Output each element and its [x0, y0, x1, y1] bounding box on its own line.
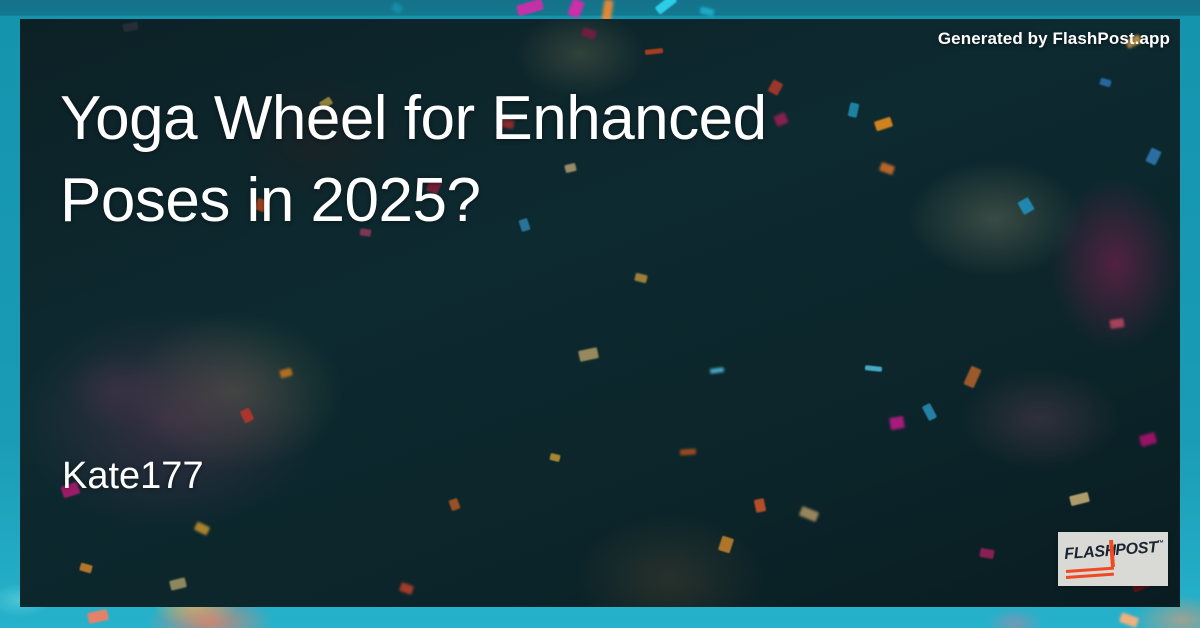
flashpost-logo-trademark-icon: ™: [1157, 540, 1164, 547]
author-name: Kate177: [62, 455, 204, 498]
flashpost-logo-speed-line-1: [1066, 567, 1114, 573]
flashpost-logo: FLASH POST ™: [1058, 532, 1168, 586]
flashpost-logo-word-post: POST: [1115, 539, 1159, 560]
flashpost-logo-speed-line-2: [1066, 573, 1114, 579]
page-title: Yoga Wheel for Enhanced Poses in 2025?: [60, 78, 1020, 243]
attribution-label: Generated by FlashPost.app: [938, 29, 1170, 49]
flashpost-logo-inner: FLASH POST ™: [1058, 532, 1168, 586]
social-share-card: Generated by FlashPost.app Yoga Wheel fo…: [0, 0, 1200, 628]
